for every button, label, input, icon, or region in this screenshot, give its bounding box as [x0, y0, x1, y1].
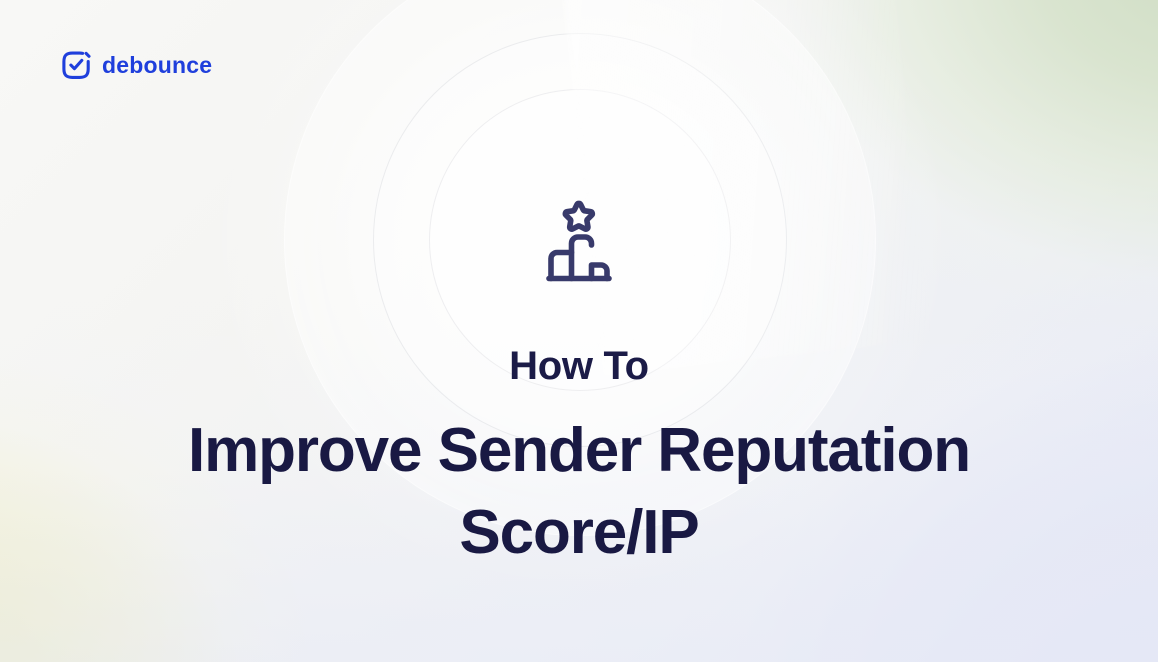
page-title: Improve Sender Reputation Score/IP [129, 410, 1029, 574]
how-to-cover-card: debounce How To Improve Sender Reputatio… [0, 0, 1158, 662]
check-badge-icon [59, 48, 93, 82]
brand-logo[interactable]: debounce [59, 48, 212, 82]
eyebrow-label: How To [509, 344, 649, 388]
brand-wordmark: debounce [102, 54, 212, 77]
cover-content: How To Improve Sender Reputation Score/I… [0, 0, 1158, 615]
podium-star-ranking-icon [527, 0, 631, 296]
